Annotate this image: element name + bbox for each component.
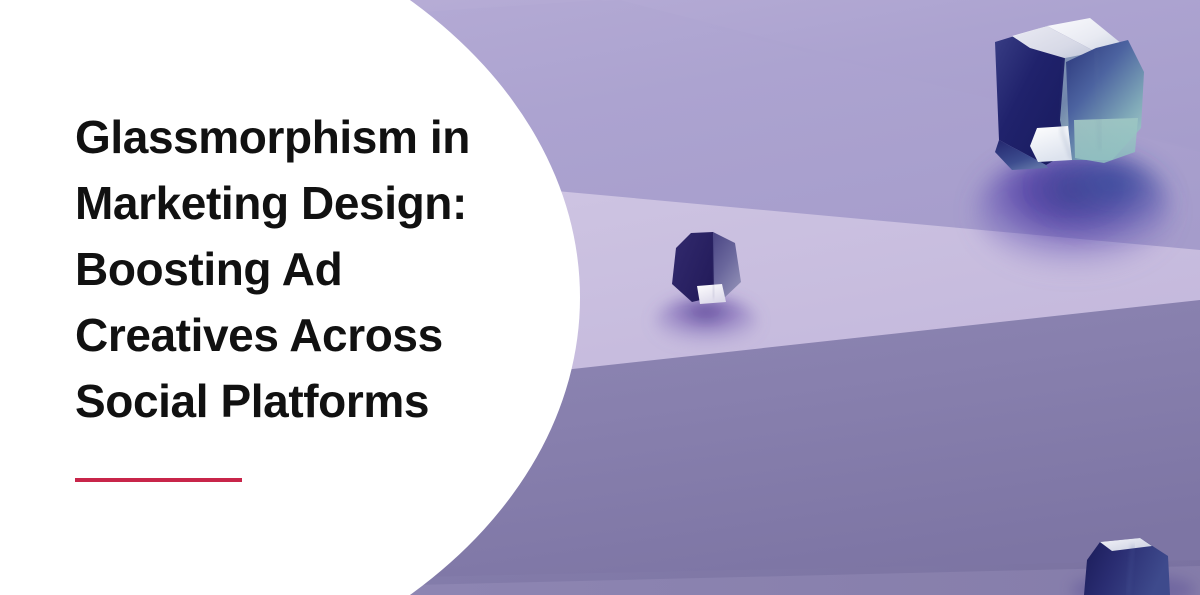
headline-container: Glassmorphism in Marketing Design: Boost…: [75, 104, 545, 434]
red-accent-rule: [75, 478, 242, 482]
hero-banner: Glassmorphism in Marketing Design: Boost…: [0, 0, 1200, 595]
large-crystal-reflection-blue: [1028, 155, 1168, 245]
small-crystal-facet-foot: [697, 284, 726, 304]
large-crystal-facet-white-foot: [1030, 126, 1072, 162]
white-panel-left-fill: [0, 0, 30, 595]
small-crystal-reflection: [654, 296, 758, 348]
page-title: Glassmorphism in Marketing Design: Boost…: [75, 104, 545, 434]
